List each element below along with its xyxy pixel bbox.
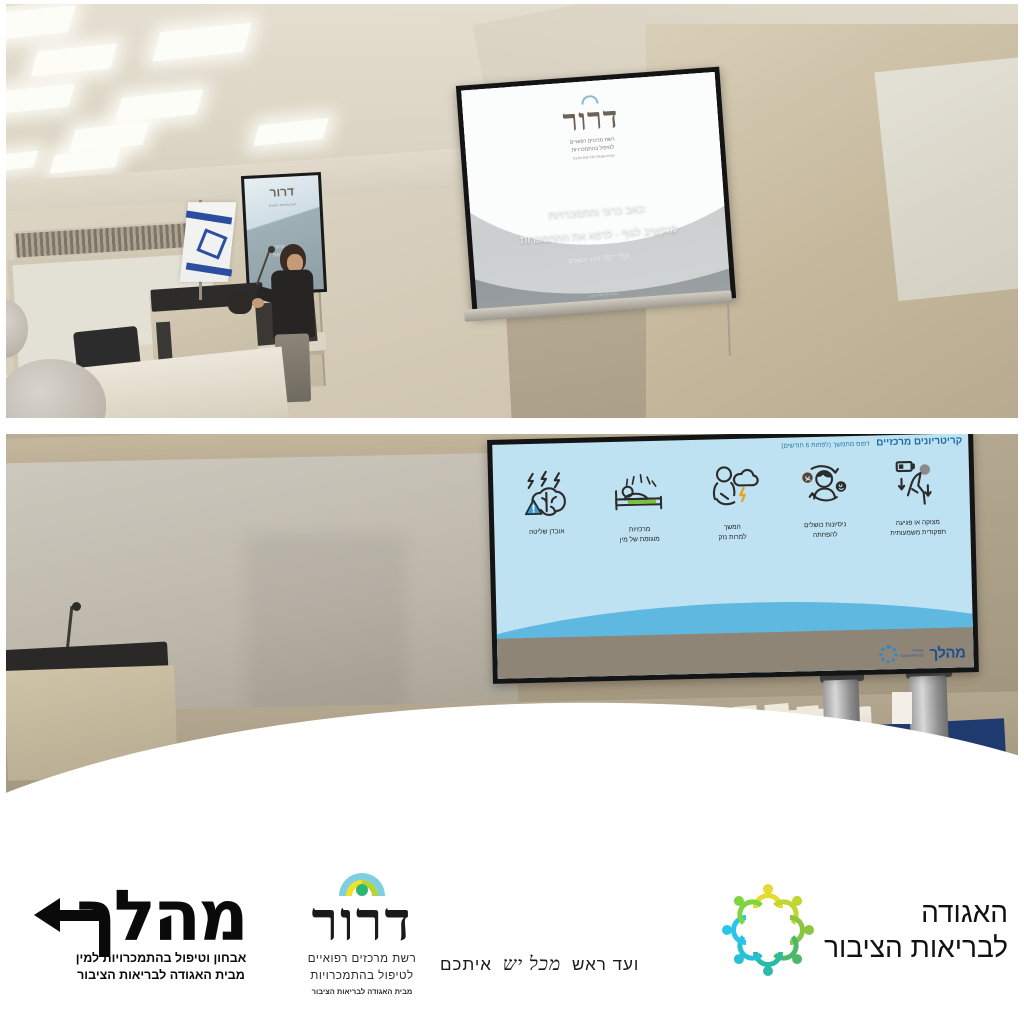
footer-logo-bar: מהלך אבחון וטיפול בהתמכרויות למין מבית ה… xyxy=(0,862,1024,1024)
criteria-label-l2: למרות נזק xyxy=(718,534,746,542)
photo-top-lecture-hall: דרור רשת מרכזים רפואיים כאב כרוני והתמכר… xyxy=(6,4,1018,418)
tagline-signature: מכל יש xyxy=(503,954,562,975)
secondary-screen-logo: דרור xyxy=(244,183,319,201)
logo-agudah: האגודה לבריאות הציבור xyxy=(722,884,1008,976)
agudah-line1: האגודה xyxy=(912,649,923,653)
criteria-label-l1: מרכזיות xyxy=(629,526,651,534)
arrow-tail-icon xyxy=(56,910,106,921)
criteria-label: ניסיונות כושלים להפחתה xyxy=(781,520,869,543)
tagline: ועד ראש מכל יש איתכם xyxy=(440,954,639,976)
tagline-prefix: איתכם xyxy=(440,955,492,974)
slide-title-page: דרור רשת מרכזים רפואיים לטיפול בהתמכרויו… xyxy=(461,72,731,312)
microphone-head-icon xyxy=(72,602,81,611)
slide-heading-sub: דפוס מתמשך (לפחות 6 חודשים) xyxy=(781,441,869,450)
storm-cloud-person-icon xyxy=(687,458,776,522)
brain-warning-lightning-icon xyxy=(501,462,590,526)
relapse-cycle-face-icon xyxy=(779,456,868,520)
dror-sub-l2: לטיפול בהתמכרויות xyxy=(310,970,413,982)
criteria-label-l2: תפקודית משמעותית xyxy=(890,529,946,537)
battery-drained-bent-person-icon xyxy=(872,453,961,517)
secondary-screen-sub: רשת מרכזים רפואיים xyxy=(245,201,319,209)
mehalach-sub-l2: מבית האגודה לבריאות הציבור xyxy=(77,968,245,982)
cup-stack xyxy=(892,692,912,724)
microphone-head-icon xyxy=(268,246,275,253)
criteria-label: אובדן שליטה xyxy=(503,526,591,538)
agudah-logo: האגודה לבריאות הציבור xyxy=(880,644,924,663)
slide-heading: קריטריונים מרכזיים דפוס מתמשך (לפחות 6 ח… xyxy=(781,435,962,450)
slide-criteria: קריטריונים מרכזיים דפוס מתמשך (לפחות 6 ח… xyxy=(492,434,974,679)
criteria-label: המשך למרות נזק xyxy=(688,522,776,545)
dror-wordmark: דרור xyxy=(282,897,442,948)
criteria-list: מצוקה או פגיעה תפקודית משמעותית xyxy=(493,453,971,549)
dror-sub-l1: רשת מרכזים רפואיים xyxy=(308,953,416,965)
criteria-item: המשך למרות נזק xyxy=(687,458,777,545)
speaker-hand xyxy=(252,298,264,308)
projection-screen: קריטריונים מרכזיים דפוס מתמשך (לפחות 6 ח… xyxy=(487,434,979,684)
tagline-suffix: ועד ראש xyxy=(572,955,639,974)
logo-dror: דרור רשת מרכזים רפואיים לטיפול בהתמכרויו… xyxy=(282,872,442,996)
slide-footer-logos: מהלך האגודה לבריאות הציבור xyxy=(880,643,966,663)
dror-arc-icon xyxy=(339,872,385,896)
logo-mehalach: מהלך אבחון וטיפול בהתמכרויות למין מבית ה… xyxy=(26,884,296,984)
agudah-word-l1: האגודה xyxy=(921,897,1008,928)
criteria-item: אובדן שליטה xyxy=(501,462,591,549)
criteria-label: מצוקה או פגיעה תפקודית משמעותית xyxy=(874,517,962,540)
slide-signature: אלי ישר xyxy=(602,251,630,263)
criteria-item: מרכזיות מוגזמת של מין xyxy=(594,460,684,547)
person-in-bed-awake-icon xyxy=(594,460,683,524)
agudah-wordmark: האגודה לבריאות הציבור xyxy=(824,895,1008,965)
criteria-item: ניסיונות כושלים להפחתה xyxy=(779,456,869,543)
criteria-item: מצוקה או פגיעה תפקודית משמעותית xyxy=(872,453,962,540)
criteria-label-l2: להפחתה xyxy=(813,532,838,540)
criteria-label: מרכזיות מוגזמת של מין xyxy=(595,524,683,547)
dror-subtitle-small: מבית האגודה לבריאות הציבור xyxy=(282,987,442,996)
mehalach-logo: מהלך xyxy=(929,644,965,662)
agudah-people-ring-icon xyxy=(722,884,814,976)
slide-heading-main: קריטריונים מרכזיים xyxy=(876,435,962,448)
wall-shadow xyxy=(246,534,406,714)
poster-canvas: דרור רשת מרכזים רפואיים כאב כרוני והתמכר… xyxy=(0,0,1024,1024)
seated-person xyxy=(228,292,252,314)
criteria-label-l1: המשך xyxy=(724,524,741,531)
glass-partition xyxy=(874,57,1018,301)
criteria-label-l2: מוגזמת של מין xyxy=(620,536,660,544)
agudah-word-l2: לבריאות הציבור xyxy=(824,932,1008,963)
agudah-ring-icon xyxy=(880,645,898,663)
criteria-label-l1: ניסיונות כושלים xyxy=(804,521,846,529)
dror-sub-l2: לטיפול בהתמכרויות xyxy=(571,144,614,153)
agudah-logo-text: האגודה לבריאות הציבור xyxy=(900,649,924,659)
dror-subtitle: רשת מרכזים רפואיים לטיפול בהתמכרויות xyxy=(282,951,442,984)
agudah-line2: לבריאות הציבור xyxy=(900,653,924,658)
main-projection-screen: דרור רשת מרכזים רפואיים לטיפול בהתמכרויו… xyxy=(456,67,736,318)
criteria-label-l1: אובדן שליטה xyxy=(529,528,565,536)
criteria-label-l1: מצוקה או פגיעה xyxy=(896,519,940,527)
